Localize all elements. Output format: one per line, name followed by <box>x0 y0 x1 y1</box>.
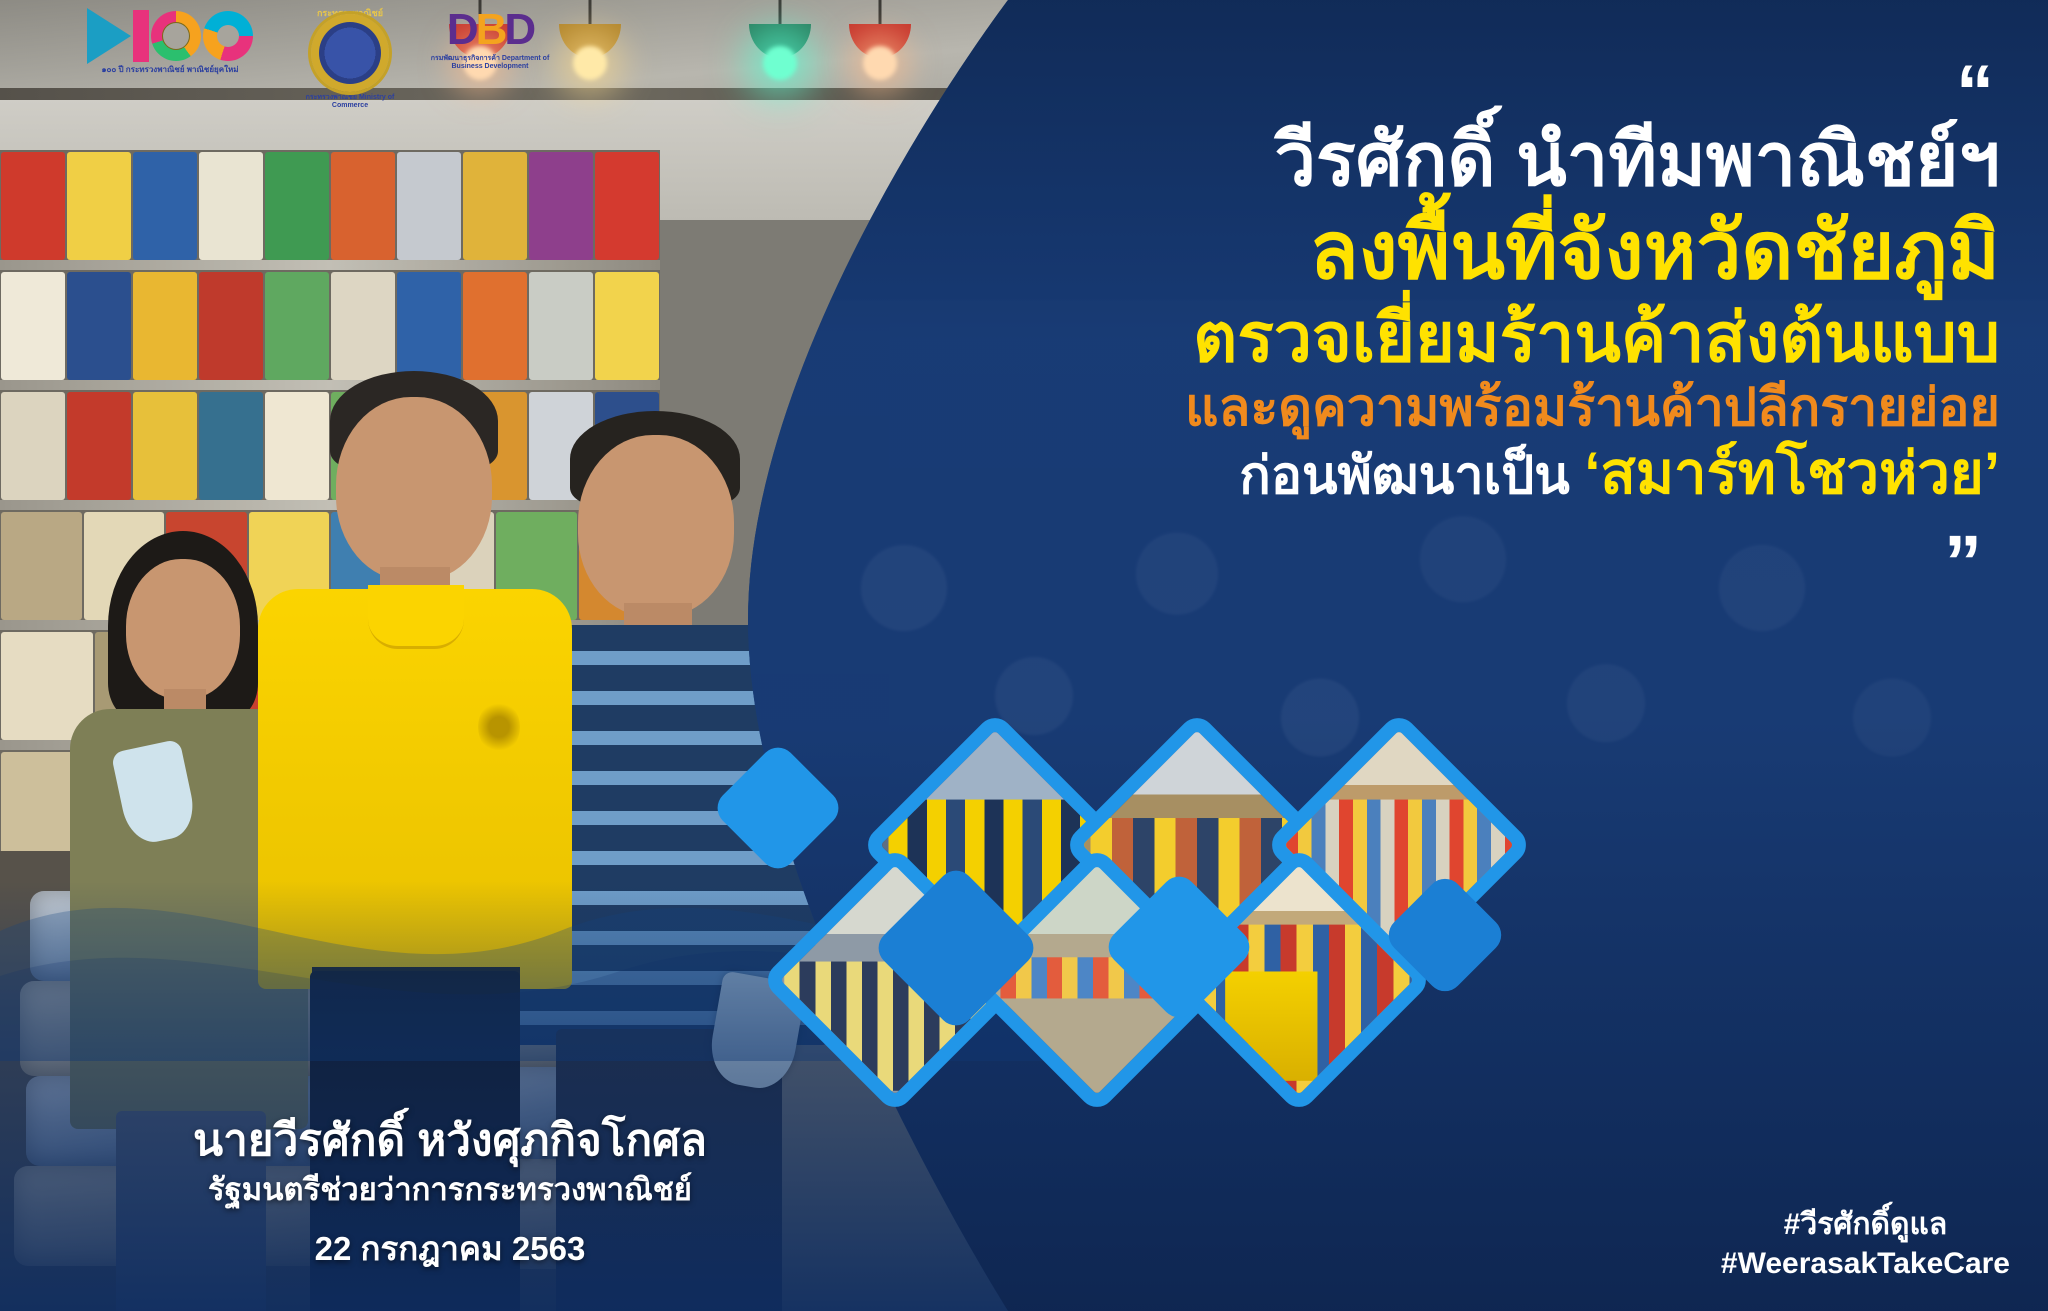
digit-zero-seal-mark <box>151 11 201 61</box>
headline-line-4: และดูความพร้อมร้านค้าปลีกรายย่อย <box>990 378 2000 439</box>
hashtag-english[interactable]: #WeerasakTakeCare <box>1721 1244 2010 1283</box>
poster-root: ๑๐๐ ปี กระทรวงพาณิชย์ พาณิชย์ยุคใหม่ กระ… <box>0 0 2048 1311</box>
hashtags-block: #วีรศักดิ์ดูแล #WeerasakTakeCare <box>1721 1205 2010 1283</box>
headline-line-5-text: ก่อนพัฒนาเป็น <box>1239 447 1584 505</box>
logo-bar: ๑๐๐ ปี กระทรวงพาณิชย์ พาณิชย์ยุคใหม่ กระ… <box>70 8 550 109</box>
quote-close-mark: ” <box>990 548 2000 578</box>
headline-line-5: ก่อนพัฒนาเป็น ‘สมาร์ทโชวห่วย’ <box>990 440 2000 508</box>
play-triangle-icon <box>87 8 131 64</box>
seal-ring-icon <box>311 14 389 92</box>
headline-line-2: ลงพื้นที่จังหวัดชัยภูมิ <box>990 204 2000 298</box>
seal-caption: กระทรวงพาณิชย์ Ministry of Commerce <box>304 94 396 109</box>
digit-zero-ring-mark <box>203 11 253 61</box>
headline-line-3: ตรวจเยี่ยมร้านค้าส่งต้นแบบ <box>990 298 2000 378</box>
dbd-wordmark: DBD <box>430 8 550 52</box>
ministry-of-commerce-seal: กระทรวงพาณิชย์ กระทรวงพาณิชย์ Ministry o… <box>304 8 396 109</box>
minister-role: รัฐมนตรีช่วยว่าการกระทรวงพาณิชย์ <box>170 1170 730 1210</box>
quote-open-mark: “ <box>990 78 2000 108</box>
dbd-logo: DBD กรมพัฒนาธุรกิจการค้า Department of B… <box>430 8 550 70</box>
event-date: 22 กรกฎาคม 2563 <box>170 1222 730 1275</box>
dbd-caption: กรมพัฒนาธุรกิจการค้า Department of Busin… <box>430 55 550 70</box>
digit-one-mark <box>133 10 149 62</box>
minister-name: นายวีรศักดิ์ หวังศุภกิจโกศล <box>170 1113 730 1168</box>
shirt-crest-icon <box>478 701 520 753</box>
moc-100-years-caption: ๑๐๐ ปี กระทรวงพาณิชย์ พาณิชย์ยุคใหม่ <box>70 66 270 74</box>
headline-line-5-emphasis: ‘สมาร์ทโชวห่วย’ <box>1584 441 2000 506</box>
caption-block: นายวีรศักดิ์ หวังศุภกิจโกศล รัฐมนตรีช่วย… <box>170 1113 730 1275</box>
headline-block: “ วีรศักดิ์ นำทีมพาณิชย์ฯ ลงพื้นที่จังหว… <box>990 78 2000 579</box>
moc-100-years-logo: ๑๐๐ ปี กระทรวงพาณิชย์ พาณิชย์ยุคใหม่ <box>70 8 270 74</box>
headline-line-1: วีรศักดิ์ นำทีมพาณิชย์ฯ <box>990 116 2000 203</box>
hashtag-thai[interactable]: #วีรศักดิ์ดูแล <box>1721 1205 2010 1244</box>
